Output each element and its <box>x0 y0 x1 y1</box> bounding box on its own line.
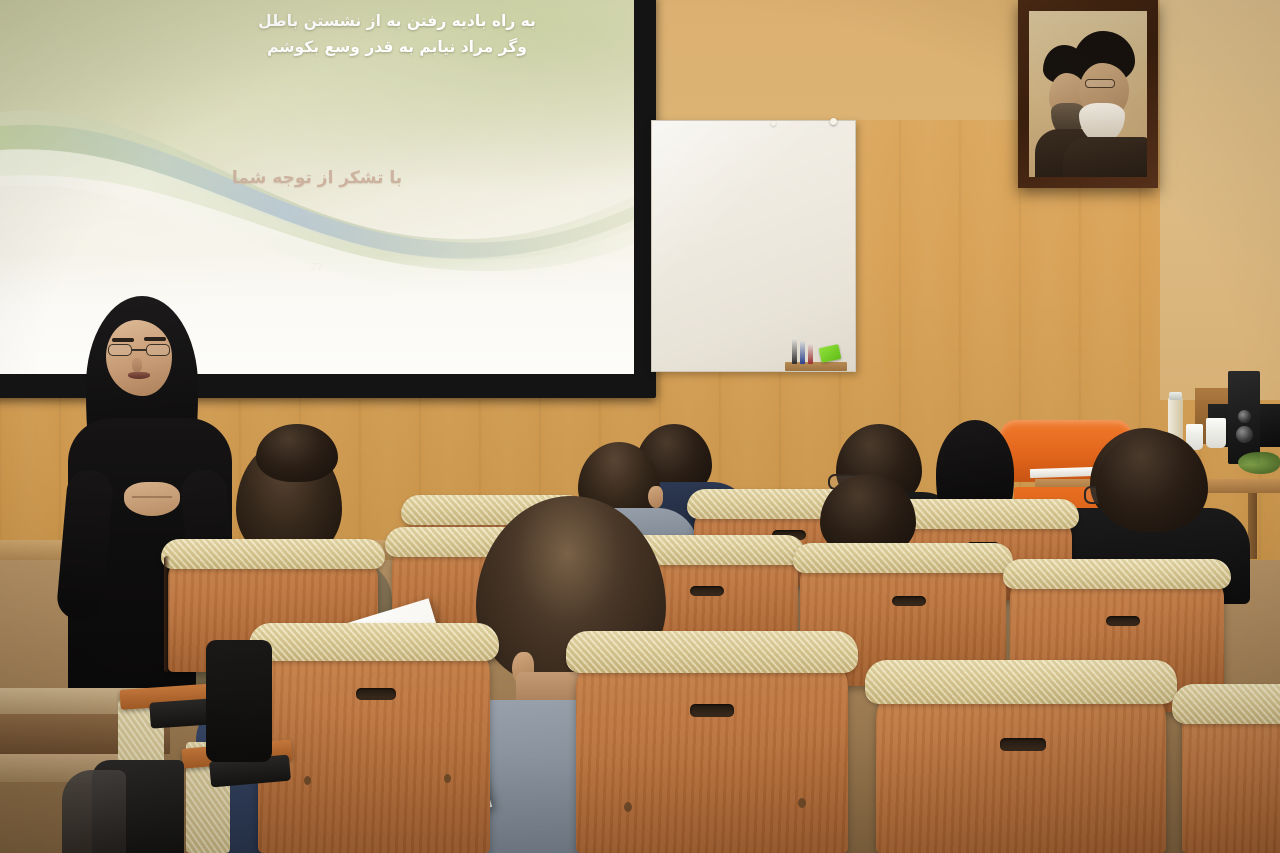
seat-trim <box>865 660 1177 704</box>
seat-trim <box>1003 559 1231 589</box>
framed-portrait <box>1018 0 1158 188</box>
seat-handle-slot <box>1106 616 1140 626</box>
seat-handle-slot <box>356 688 396 700</box>
seat-front-3[interactable] <box>876 680 1166 853</box>
seat-trim <box>161 539 385 569</box>
presenter-hand-crease <box>132 496 172 498</box>
poem-line-1: به راه بادیه رفتن به از نشستن باطل <box>182 8 612 34</box>
marker-black-icon <box>792 338 797 364</box>
seat-shadow-edge <box>164 556 170 672</box>
presenter-mouth <box>128 372 150 379</box>
seat-trim <box>249 623 499 661</box>
seat-handle-slot <box>690 704 734 717</box>
loudspeaker-tweeter-icon <box>1238 410 1251 423</box>
conference-hall-scene: به راه بادیه رفتن به از نشستن باطل وگر م… <box>0 0 1280 853</box>
audience-ear-back-left <box>648 486 663 508</box>
seat-handle-slot <box>690 586 724 596</box>
presenter-nose <box>132 358 142 372</box>
whiteboard <box>651 120 856 372</box>
presenter-brow-right <box>144 337 166 341</box>
whiteboard-mount-left <box>771 121 776 126</box>
seat-handle-slot <box>1000 738 1046 751</box>
seat-trim <box>1172 684 1280 724</box>
marker-red-icon <box>808 343 813 364</box>
seat-front-1[interactable] <box>258 640 490 853</box>
seat-trim <box>566 631 858 673</box>
audience-head-mid-left-top <box>256 424 338 482</box>
seat-rivet-left <box>624 802 632 812</box>
table-greenery <box>1238 452 1280 474</box>
seat-rivet-left <box>304 776 311 785</box>
slide-poem: به راه بادیه رفتن به از نشستن باطل وگر م… <box>182 8 612 60</box>
seat-front-2[interactable] <box>576 650 848 853</box>
portrait-figure-front-robe <box>1063 137 1147 177</box>
presenter-glasses-icon <box>108 344 170 356</box>
paper-cup-1 <box>1206 418 1226 448</box>
wall-right-plaster <box>1160 0 1280 400</box>
slide-thanks-text: با تشکر از توجه شما <box>0 168 634 188</box>
whiteboard-mount-right <box>830 118 837 125</box>
seat-front-4[interactable] <box>1182 702 1280 853</box>
seat-handle-slot <box>892 596 926 606</box>
whiteboard-glare <box>652 121 855 371</box>
glasses-lens-left <box>108 344 132 356</box>
seat-back-foreground <box>62 770 126 853</box>
seat-trim <box>793 543 1013 573</box>
portrait-image <box>1029 11 1147 177</box>
loudspeaker-woofer-icon <box>1236 426 1253 443</box>
seat-rivet-right <box>444 774 451 783</box>
water-bottle-cap <box>1169 392 1182 400</box>
poem-line-2: وگر مراد نیابم به قدر وسع بکوشم <box>182 34 612 60</box>
portrait-glasses-icon <box>1085 79 1115 88</box>
glasses-bridge <box>132 349 146 351</box>
audience-clothing-left-edge <box>206 640 272 762</box>
presenter-brow-left <box>112 338 134 342</box>
seat-rivet-right <box>798 798 806 808</box>
marker-blue-icon <box>800 341 805 364</box>
presenter-hands <box>124 482 180 516</box>
glasses-lens-right <box>146 344 170 356</box>
